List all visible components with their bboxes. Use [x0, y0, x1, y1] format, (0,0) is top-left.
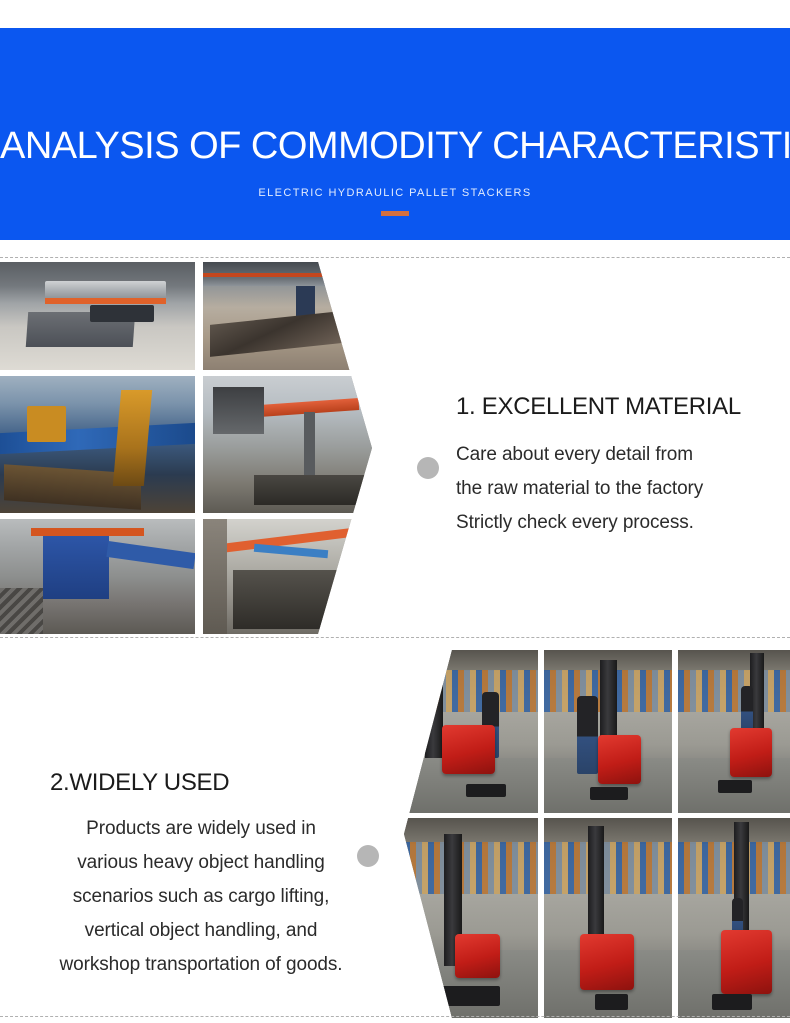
photo-red-pallet-stacker-operator-handle — [404, 650, 538, 813]
photo-powder-coating-oven-ducts — [203, 519, 372, 634]
section-divider-bottom — [0, 1016, 790, 1017]
material-body: Care about every detail from the raw mat… — [456, 438, 782, 540]
usage-body-line: various heavy object handling — [22, 846, 380, 880]
material-body-line: Strictly check every process. — [456, 506, 782, 540]
photo-stacker-with-carton-on-platform — [544, 818, 672, 1018]
photo-stacker-in-warehouse-aisle-with-worker — [544, 650, 672, 813]
material-heading: 1. EXCELLENT MATERIAL — [456, 392, 782, 422]
grid-gap — [195, 519, 203, 634]
photo-stacker-beside-pallet-racking — [678, 650, 790, 813]
usage-body-line: workshop transportation of goods. — [22, 948, 380, 982]
grid-gap — [195, 376, 203, 513]
page-header-banner: ANALYSIS OF COMMODITY CHARACTERISTICS EL… — [0, 28, 790, 240]
product-detail-page: ANALYSIS OF COMMODITY CHARACTERISTICS EL… — [0, 0, 790, 1023]
usage-heading: 2.WIDELY USED — [22, 768, 380, 798]
page-title: ANALYSIS OF COMMODITY CHARACTERISTICS — [0, 123, 790, 169]
photo-straddle-stacker-forks-closeup — [404, 818, 538, 1018]
bullet-marker-icon-material — [417, 457, 439, 479]
usage-photo-collage — [404, 650, 790, 1018]
material-body-line: Care about every detail from — [456, 438, 782, 472]
section-divider-middle — [0, 637, 790, 638]
material-photo-collage — [0, 262, 372, 634]
usage-text-block: 2.WIDELY USED Products are widely used i… — [22, 768, 380, 982]
photo-hydraulic-shearing-machine — [0, 262, 195, 370]
photo-cnc-plasma-cutting-machine — [0, 376, 195, 513]
usage-body: Products are widely used in various heav… — [22, 812, 380, 982]
accent-bar-icon — [381, 211, 409, 216]
material-body-line: the raw material to the factory — [456, 472, 782, 506]
photo-shot-blasting-paint-line — [0, 519, 195, 634]
photo-workshop-overhead-jib-crane — [203, 376, 372, 513]
usage-body-line: scenarios such as cargo lifting, — [22, 880, 380, 914]
page-subtitle: ELECTRIC HYDRAULIC PALLET STACKERS — [0, 186, 790, 200]
section-divider-top — [0, 257, 790, 258]
usage-body-line: Products are widely used in — [22, 812, 380, 846]
usage-body-line: vertical object handling, and — [22, 914, 380, 948]
photo-stacker-operator-tiller-arm — [678, 818, 790, 1018]
photo-steel-pipe-storage-yard — [203, 262, 372, 370]
material-text-block: 1. EXCELLENT MATERIAL Care about every d… — [456, 392, 782, 540]
grid-gap — [195, 262, 203, 370]
